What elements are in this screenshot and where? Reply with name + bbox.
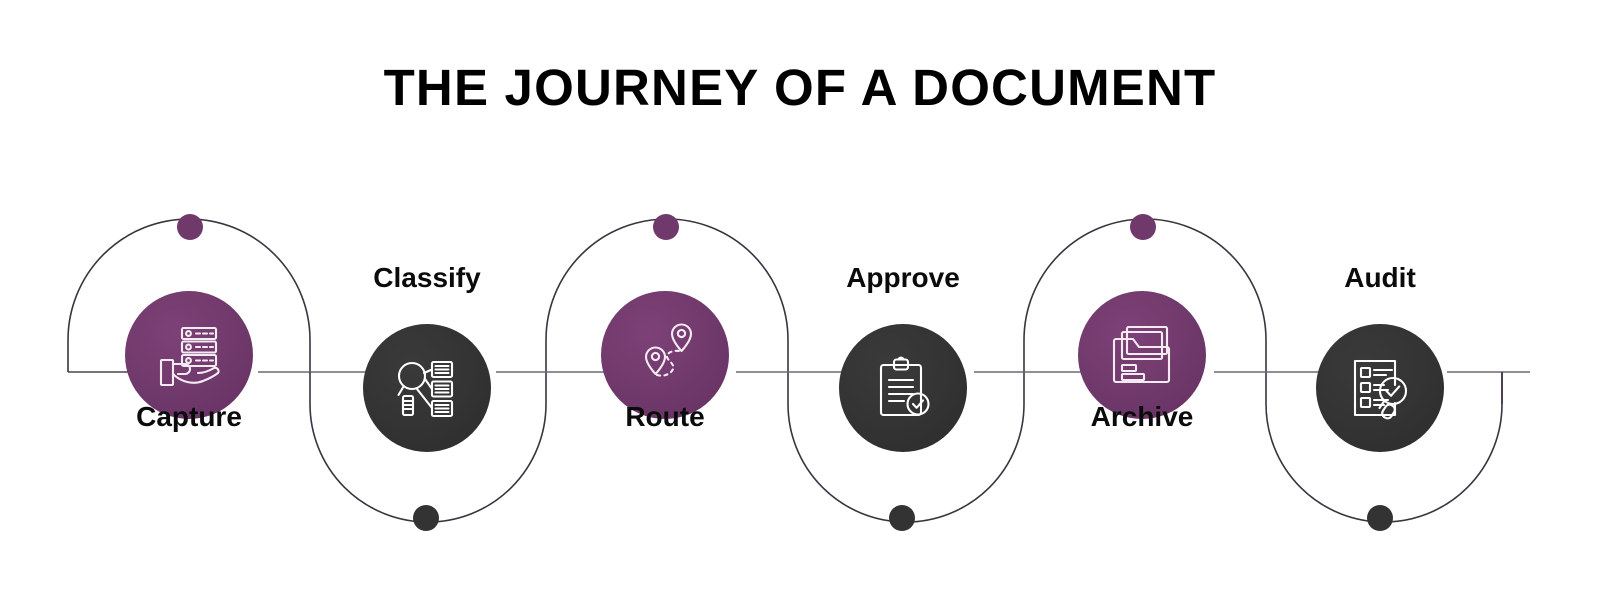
folder-files-icon [1105,318,1179,392]
step-label-approve: Approve [743,262,1063,294]
flow-connector-diagram [0,0,1600,600]
step-label-classify: Classify [267,262,587,294]
arc-dot-step-3 [653,214,679,240]
step-label-capture: Capture [29,401,349,433]
map-pins-path-icon [628,318,702,392]
step-label-route: Route [505,401,825,433]
clipboard-check-icon [866,351,940,425]
arc-dot-step-4 [889,505,915,531]
hand-holding-server-icon [152,318,226,392]
step-label-audit: Audit [1220,262,1540,294]
arc-dot-step-1 [177,214,203,240]
step-icon-circle-capture[interactable] [125,291,253,419]
arc-dot-step-2 [413,505,439,531]
arc-dot-step-5 [1130,214,1156,240]
step-icon-circle-classify[interactable] [363,324,491,452]
step-icon-circle-archive[interactable] [1078,291,1206,419]
step-icon-circle-route[interactable] [601,291,729,419]
step-icon-circle-audit[interactable] [1316,324,1444,452]
step-icon-circle-approve[interactable] [839,324,967,452]
step-label-archive: Archive [982,401,1302,433]
infographic-canvas: THE JOURNEY OF A DOCUMENT [0,0,1600,600]
checklist-magnifier-icon [1343,351,1417,425]
arc-dot-step-6 [1367,505,1393,531]
magnifier-documents-icon [390,351,464,425]
